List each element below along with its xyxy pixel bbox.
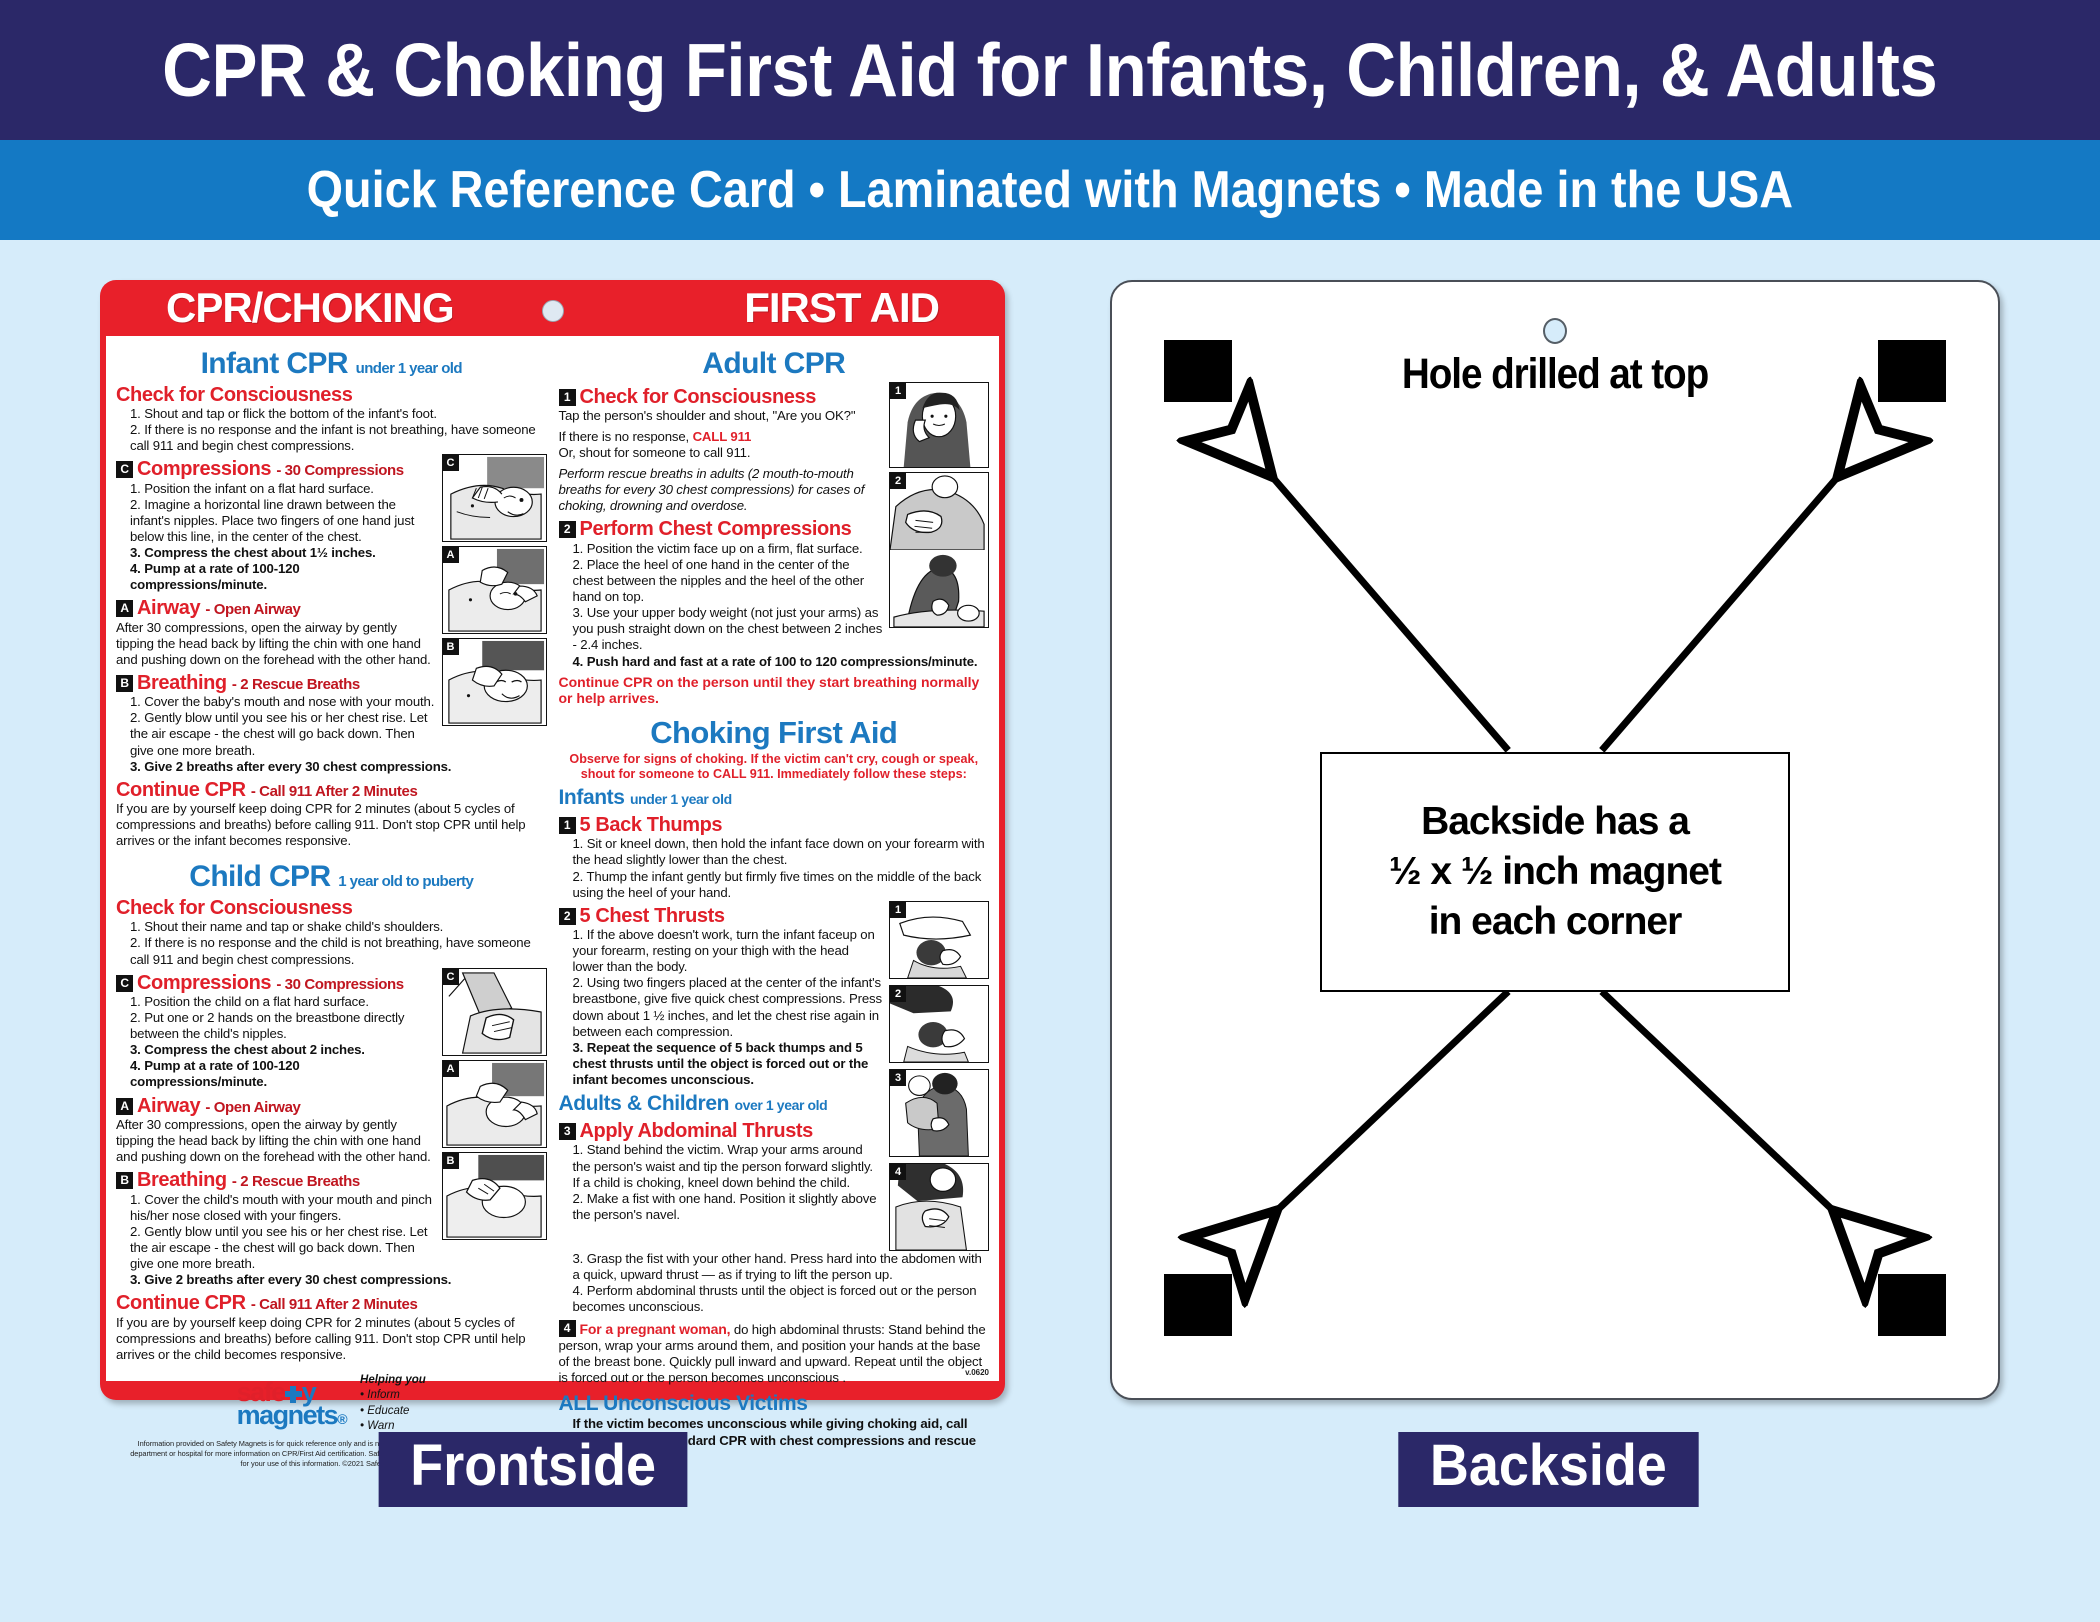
choking-adults-children-age: over 1 year old: [734, 1097, 827, 1113]
infant-compressions-item-2: 2. Imagine a horizontal line drawn betwe…: [116, 497, 436, 545]
logo-registered: ®: [337, 1411, 346, 1427]
choking-first-aid-title: Choking First Aid: [559, 717, 990, 750]
choking-detail-block: 25 Chest Thrusts 1. If the above doesn't…: [559, 901, 990, 1251]
infant-continue-cpr-sub: - Call 911 After 2 Minutes: [251, 783, 418, 800]
safety-magnets-logo: safey magnets® Helping you • Inform • Ed…: [116, 1373, 547, 1435]
infant-cpr-age: under 1 year old: [356, 360, 462, 377]
adult-check-line-1: Tap the person's shoulder and shout, "Ar…: [559, 408, 884, 424]
child-compressions-item-3: 3. Compress the chest about 2 inches.: [116, 1042, 436, 1058]
abdominal-thrusts-heading: 3Apply Abdominal Thrusts: [559, 1120, 884, 1142]
abdominal-thrusts-item-4: 4. Perform abdominal thrusts until the o…: [559, 1283, 990, 1315]
cross-icon: [285, 1386, 302, 1403]
right-column: Adult CPR 1Check for Consciousness Tap t…: [553, 336, 1000, 1381]
adult-check-consciousness-heading: 1Check for Consciousness: [559, 386, 884, 408]
choking-infants-age: under 1 year old: [630, 791, 732, 807]
infant-airway-heading: AAirway - Open Airway: [116, 597, 436, 619]
infant-airway-sub: - Open Airway: [205, 601, 300, 618]
infant-breathing-sub: - 2 Rescue Breaths: [232, 676, 360, 693]
child-check-item-1: 1. Shout their name and tap or shake chi…: [116, 919, 547, 935]
back-thumps-item-1: 1. Sit or kneel down, then hold the infa…: [559, 836, 990, 868]
back-thumps-heading: 15 Back Thumps: [559, 814, 990, 836]
child-breathing-heading: BBreathing - 2 Rescue Breaths: [116, 1169, 436, 1191]
card-header: CPR/CHOKING FIRST AID: [106, 286, 999, 336]
frontside-card: CPR/CHOKING FIRST AID Infant CPR under 1…: [100, 280, 1005, 1400]
child-airway-heading: AAirway - Open Airway: [116, 1095, 436, 1117]
child-breathing-illustration: B: [442, 1152, 547, 1240]
choking-adults-children-group-label: Adults & Children over 1 year old: [559, 1092, 884, 1116]
pregnant-woman-thrusts-illustration: 4: [889, 1163, 989, 1251]
version-tag: v.0620: [965, 1368, 989, 1377]
back-thumps-item-2: 2. Thump the infant gently but firmly fi…: [559, 869, 990, 901]
infant-breathing-item-3: 3. Give 2 breaths after every 30 chest c…: [116, 759, 547, 775]
call-911-highlight: CALL 911: [693, 429, 752, 444]
choking-intro-text: Observe for signs of choking. If the vic…: [559, 752, 990, 782]
badge-2-icon: 2: [559, 908, 576, 925]
infant-check-consciousness-heading: Check for Consciousness: [116, 384, 547, 406]
choking-illustrations-column: 1 2 3 4: [889, 901, 989, 1251]
child-cpr-title: Child CPR 1 year old to puberty: [116, 861, 547, 893]
unconscious-victims-heading: ALL Unconscious Victims: [559, 1392, 990, 1416]
child-compressions-item-2: 2. Put one or 2 hands on the breastbone …: [116, 1010, 436, 1042]
infant-back-thumps-illustration: 1: [889, 901, 989, 979]
card-body: Infant CPR under 1 year old Check for Co…: [106, 336, 999, 1381]
magnet-line-3: in each corner: [1429, 900, 1682, 944]
badge-4-icon: 4: [559, 1320, 576, 1337]
chest-thrusts-item-3: 3. Repeat the sequence of 5 back thumps …: [559, 1040, 884, 1088]
tagline-head: Helping you: [360, 1373, 426, 1389]
infant-airway-illustration: A: [442, 546, 547, 634]
badge-b-icon: B: [116, 675, 133, 692]
child-compressions-illustration: C: [442, 968, 547, 1056]
infant-breathing-heading: BBreathing - 2 Rescue Breaths: [116, 672, 436, 694]
infant-compressions-item-1: 1. Position the infant on a flat hard su…: [116, 481, 436, 497]
child-airway-illustration: A: [442, 1060, 547, 1148]
badge-1-icon: 1: [559, 389, 576, 406]
abdominal-thrusts-item-3: 3. Grasp the fist with your other hand. …: [559, 1251, 990, 1283]
chest-thrusts-heading: 25 Chest Thrusts: [559, 905, 884, 927]
page-subtitle: Quick Reference Card • Laminated with Ma…: [307, 160, 1793, 220]
adult-check-line-3: Or, shout for someone to call 911.: [559, 445, 884, 461]
product-images-stage: CPR/CHOKING FIRST AID Infant CPR under 1…: [0, 240, 2100, 1622]
card-header-right-title: FIRST AID: [744, 284, 939, 332]
badge-c-icon: C: [116, 461, 133, 478]
adult-continue-cpr-warning: Continue CPR on the person until they st…: [559, 674, 990, 708]
infant-check-item-1: 1. Shout and tap or flick the bottom of …: [116, 406, 547, 422]
infant-breathing-item-1: 1. Cover the baby's mouth and nose with …: [116, 694, 436, 710]
child-continue-cpr-sub: - Call 911 After 2 Minutes: [251, 1296, 418, 1313]
child-airway-text: After 30 compressions, open the airway b…: [116, 1117, 436, 1165]
infant-breathing-illustration: B: [442, 638, 547, 726]
chest-thrusts-item-2: 2. Using two fingers placed at the cente…: [559, 975, 884, 1039]
choking-infants-group-label: Infants under 1 year old: [559, 786, 990, 810]
infant-compressions-item-4: 4. Pump at a rate of 100-120 compression…: [116, 561, 436, 593]
adult-cpr-title: Adult CPR: [559, 348, 990, 380]
backside-card: Hole drilled at top Backside has a ½ x ½…: [1110, 280, 2000, 1400]
child-compressions-block: CCompressions - 30 Compressions 1. Posit…: [116, 968, 547, 1272]
infant-continue-cpr-heading: Continue CPR - Call 911 After 2 Minutes: [116, 779, 547, 801]
child-check-consciousness-heading: Check for Consciousness: [116, 897, 547, 919]
abdominal-thrusts-illustration: 3: [889, 1069, 989, 1157]
adult-chest-compressions-illustration: 2: [889, 472, 989, 550]
adult-check-consciousness-illustration: 1: [889, 382, 989, 468]
child-continue-cpr-text: If you are by yourself keep doing CPR fo…: [116, 1315, 547, 1363]
card-header-left-title: CPR/CHOKING: [166, 284, 454, 332]
child-airway-sub: - Open Airway: [205, 1099, 300, 1116]
child-continue-cpr-heading: Continue CPR - Call 911 After 2 Minutes: [116, 1292, 547, 1314]
child-check-item-2: 2. If there is no response and the child…: [116, 935, 547, 967]
adult-compressions-item-2: 2. Place the heel of one hand in the cen…: [559, 557, 884, 605]
badge-1-icon: 1: [559, 817, 576, 834]
logo-tagline: Helping you • Inform • Educate • Warn: [360, 1373, 426, 1435]
child-breathing-item-2: 2. Gently blow until you see his or her …: [116, 1224, 436, 1272]
child-cpr-age: 1 year old to puberty: [338, 873, 473, 890]
adult-compressions-item-1: 1. Position the victim face up on a firm…: [559, 541, 884, 557]
backside-label: Backside: [1398, 1432, 1698, 1507]
child-compressions-item-4: 4. Pump at a rate of 100-120 compression…: [116, 1058, 436, 1090]
infant-compressions-heading: CCompressions - 30 Compressions: [116, 458, 436, 480]
infant-breathing-item-2: 2. Gently blow until you see his or her …: [116, 710, 436, 758]
tagline-item-educate: • Educate: [360, 1404, 426, 1420]
punch-hole-icon: [542, 300, 564, 322]
badge-c-icon: C: [116, 975, 133, 992]
adult-chest-compressions-heading: 2Perform Chest Compressions: [559, 518, 884, 540]
pregnant-woman-block: 4For a pregnant woman, do high abdominal…: [559, 1320, 990, 1386]
child-compressions-heading: CCompressions - 30 Compressions: [116, 972, 436, 994]
child-breathing-item-3: 3. Give 2 breaths after every 30 chest c…: [116, 1272, 547, 1288]
infant-check-item-2: 2. If there is no response and the infan…: [116, 422, 547, 454]
infant-compressions-block: CCompressions - 30 Compressions 1. Posit…: [116, 454, 547, 758]
adult-compressions-item-3: 3. Use your upper body weight (not just …: [559, 605, 884, 653]
badge-a-icon: A: [116, 600, 133, 617]
infant-illustrations-column: C A B: [442, 454, 547, 758]
adult-compressions-position-illustration: [889, 550, 989, 628]
child-breathing-sub: - 2 Rescue Breaths: [232, 1173, 360, 1190]
child-breathing-item-1: 1. Cover the child's mouth with your mou…: [116, 1192, 436, 1224]
adult-compressions-item-4: 4. Push hard and fast at a rate of 100 t…: [559, 654, 990, 670]
adult-rescue-breaths-note: Perform rescue breaths in adults (2 mout…: [559, 466, 884, 514]
adult-cpr-block: 1Check for Consciousness Tap the person'…: [559, 382, 990, 654]
infant-airway-text: After 30 compressions, open the airway b…: [116, 620, 436, 668]
badge-b-icon: B: [116, 1172, 133, 1189]
frontside-label: Frontside: [379, 1432, 688, 1507]
infant-continue-cpr-text: If you are by yourself keep doing CPR fo…: [116, 801, 547, 849]
logo-word-magnets: magnets: [237, 1400, 338, 1430]
infant-cpr-title: Infant CPR under 1 year old: [116, 348, 547, 380]
left-column: Infant CPR under 1 year old Check for Co…: [106, 336, 553, 1381]
abdominal-thrusts-item-1: 1. Stand behind the victim. Wrap your ar…: [559, 1142, 884, 1190]
abdominal-thrusts-item-2: 2. Make a fist with one hand. Position i…: [559, 1191, 884, 1223]
pregnant-woman-heading: For a pregnant woman,: [580, 1321, 731, 1337]
adult-check-line-2: If there is no response, CALL 911: [559, 429, 884, 445]
magnet-callout-box: Backside has a ½ x ½ inch magnet in each…: [1320, 752, 1790, 992]
badge-a-icon: A: [116, 1098, 133, 1115]
chest-thrusts-item-1: 1. If the above doesn't work, turn the i…: [559, 927, 884, 975]
adult-illustrations-column: 1 2: [889, 382, 989, 654]
tagline-item-inform: • Inform: [360, 1388, 426, 1404]
main-title-banner: CPR & Choking First Aid for Infants, Chi…: [0, 0, 2100, 140]
infant-compressions-sub: - 30 Compressions: [276, 462, 403, 479]
page-title: CPR & Choking First Aid for Infants, Chi…: [162, 27, 1937, 113]
badge-3-icon: 3: [559, 1123, 576, 1140]
child-compressions-item-1: 1. Position the child on a flat hard sur…: [116, 994, 436, 1010]
logo-wordmark: safey magnets®: [237, 1381, 346, 1427]
infant-compressions-illustration: C: [442, 454, 547, 542]
child-compressions-sub: - 30 Compressions: [276, 976, 403, 993]
badge-2-icon: 2: [559, 521, 576, 538]
infant-chest-thrusts-illustration: 2: [889, 985, 989, 1063]
infant-compressions-item-3: 3. Compress the chest about 1½ inches.: [116, 545, 436, 561]
magnet-line-1: Backside has a: [1421, 800, 1689, 844]
subtitle-banner: Quick Reference Card • Laminated with Ma…: [0, 140, 2100, 240]
child-illustrations-column: C A B: [442, 968, 547, 1272]
magnet-line-2: ½ x ½ inch magnet: [1389, 850, 1721, 894]
